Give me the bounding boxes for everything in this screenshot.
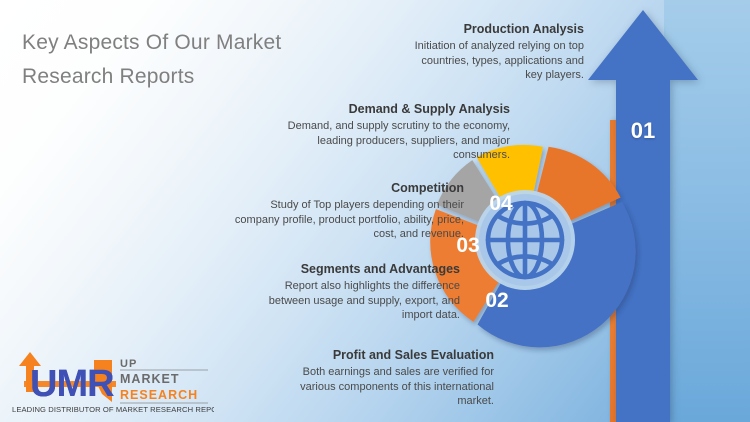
callout-body: Both earnings and sales are verified for…: [272, 365, 494, 409]
logo-mark-overlay: UMR: [30, 363, 114, 405]
logo-line-research: RESEARCH: [120, 388, 198, 402]
infographic-slide: 05 01: [0, 0, 750, 422]
callout-body: Report also highlights the difference be…: [242, 279, 460, 323]
callout-heading: Profit and Sales Evaluation: [272, 348, 494, 362]
callout-demand-supply-analysis: Demand & Supply Analysis Demand, and sup…: [282, 102, 510, 163]
callout-profit-sales-evaluation: Profit and Sales Evaluation Both earning…: [272, 348, 494, 409]
callout-segments-advantages: Segments and Advantages Report also high…: [242, 262, 460, 323]
callout-heading: Production Analysis: [402, 22, 584, 36]
callout-body: Initiation of analyzed relying on top co…: [402, 39, 584, 83]
company-logo[interactable]: UMR UMR UP MARKET RESEARCH LEADING DISTR…: [8, 346, 214, 414]
callout-competition: Competition Study of Top players dependi…: [232, 181, 464, 242]
logo-line-up: UP: [120, 358, 137, 370]
page-title: Key Aspects Of Our Market Research Repor…: [22, 26, 282, 94]
callout-production-analysis: Production Analysis Initiation of analyz…: [402, 22, 584, 83]
callout-heading: Demand & Supply Analysis: [282, 102, 510, 116]
callout-body: Demand, and supply scrutiny to the econo…: [282, 119, 510, 163]
callout-heading: Segments and Advantages: [242, 262, 460, 276]
logo-tagline: LEADING DISTRIBUTOR OF MARKET RESEARCH R…: [12, 405, 214, 414]
donut-label-04: 04: [489, 192, 513, 215]
callout-heading: Competition: [232, 181, 464, 195]
donut-chart: 04 03 02: [430, 132, 660, 372]
callout-body: Study of Top players depending on their …: [232, 198, 464, 242]
logo-line-market: MARKET: [120, 372, 179, 386]
donut-label-02: 02: [485, 289, 508, 312]
